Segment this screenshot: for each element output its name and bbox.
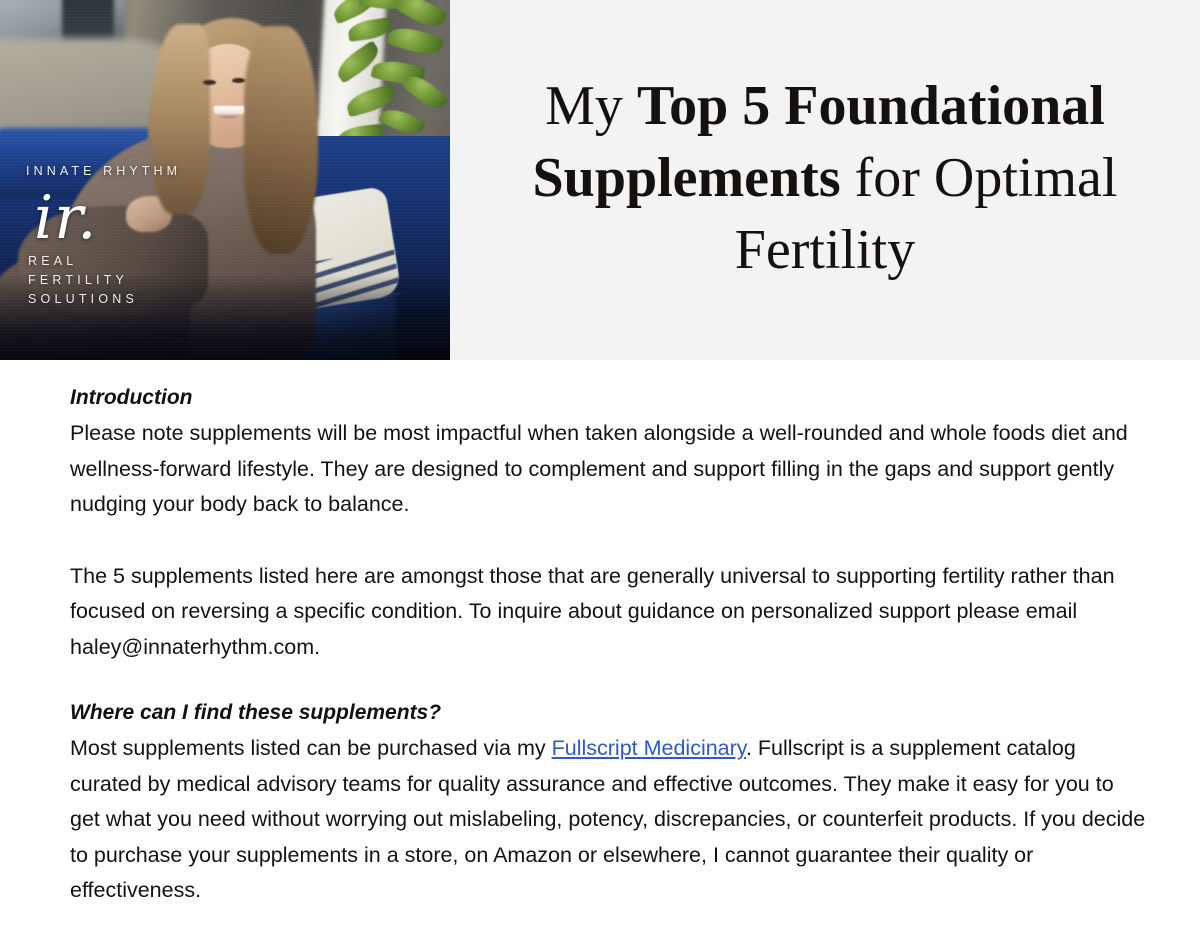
brand-tagline-line-1: REAL [28, 252, 216, 271]
brand-monogram-icon: ir. [34, 186, 216, 250]
where-to-find-paragraph: Most supplements listed can be purchased… [70, 731, 1146, 909]
section-introduction: Introduction Please note supplements wil… [70, 384, 1146, 665]
brand-tagline-line-2: FERTILITY [28, 271, 216, 290]
fullscript-medicinary-link[interactable]: Fullscript Medicinary [552, 736, 746, 760]
section-spacer [70, 665, 1146, 699]
page-title-bold-1: Top 5 Foundational [637, 75, 1105, 137]
document-header: INNATE RHYTHM ir. REAL FERTILITY SOLUTIO… [0, 0, 1200, 360]
intro-paragraph-1: Please note supplements will be most imp… [70, 416, 1146, 523]
brand-wordmark: INNATE RHYTHM [26, 164, 216, 178]
brand-tagline: REAL FERTILITY SOLUTIONS [28, 252, 216, 309]
paragraph-text-after-link: . Fullscript is a supplement catalog cur… [70, 736, 1145, 902]
brand-logo: INNATE RHYTHM ir. REAL FERTILITY SOLUTIO… [26, 164, 216, 309]
hero-title-container: My Top 5 Foundational Supplements for Op… [450, 0, 1200, 360]
document-body: Introduction Please note supplements wil… [0, 360, 1200, 909]
page-title-plain-2: for [841, 147, 920, 209]
section-where-to-find: Where can I find these supplements? Most… [70, 699, 1146, 909]
page-title-plain-1: My [545, 75, 637, 137]
photo-subject-smile [214, 106, 244, 118]
brand-tagline-line-3: SOLUTIONS [28, 290, 216, 309]
photo-subject-eye-right [232, 78, 245, 83]
section-heading-where-to-find: Where can I find these supplements? [70, 699, 1146, 727]
paragraph-text-before-link: Most supplements listed can be purchased… [70, 736, 552, 760]
page-title: My Top 5 Foundational Supplements for Op… [515, 70, 1135, 286]
paragraph-spacer [70, 523, 1146, 559]
intro-paragraph-2: The 5 supplements listed here are amongs… [70, 559, 1146, 666]
page-title-bold-2: Supplements [533, 147, 841, 209]
document-page: INNATE RHYTHM ir. REAL FERTILITY SOLUTIO… [0, 0, 1200, 935]
hero-photo: INNATE RHYTHM ir. REAL FERTILITY SOLUTIO… [0, 0, 450, 360]
photo-subject-eye-left [203, 80, 216, 85]
photo-subject-hair-side [244, 26, 318, 254]
section-heading-introduction: Introduction [70, 384, 1146, 412]
